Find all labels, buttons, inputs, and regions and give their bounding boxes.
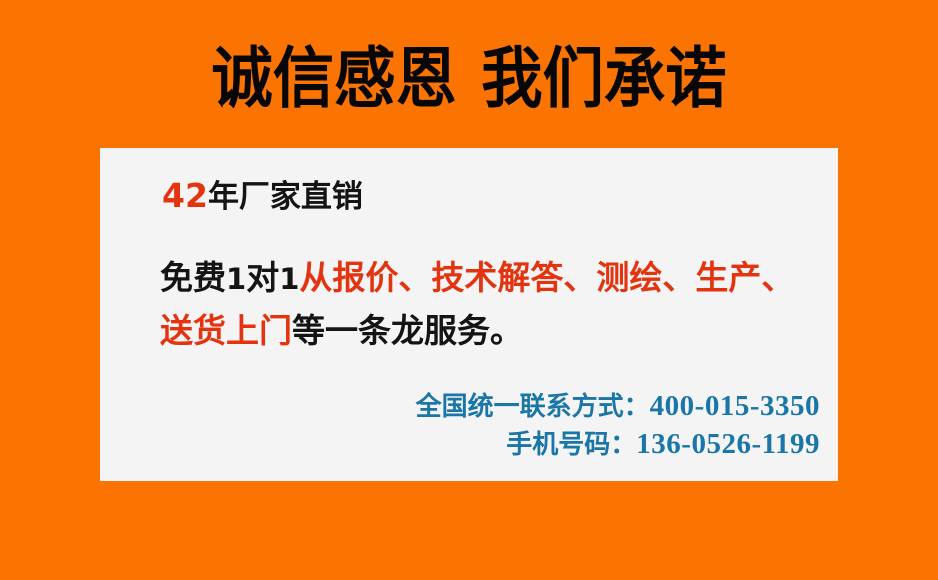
headline-part-1: 诚信感恩 <box>211 40 457 117</box>
service-seg-dui: 对 <box>246 258 279 297</box>
service-seg-free: 免费 <box>160 258 226 297</box>
headline-part-2: 我们承诺 <box>481 40 727 117</box>
contact-label-mobile: 手机号码： <box>506 430 636 460</box>
service-seg-one-a: 1 <box>226 262 246 296</box>
service-seg-tail: 等一条龙服务。 <box>292 311 523 350</box>
contact-row: 全国统一联系方式：400-015-3350 <box>416 388 820 426</box>
contact-row: 手机号码：136-0526-1199 <box>416 426 820 464</box>
promotional-banner: 诚信感恩我们承诺 42年厂家直销 免费1对1从报价、技术解答、测绘、生产、送货上… <box>0 0 938 580</box>
contact-label-hotline: 全国统一联系方式： <box>416 392 650 422</box>
headline: 诚信感恩我们承诺 <box>33 38 905 120</box>
service-description: 免费1对1从报价、技术解答、测绘、生产、送货上门等一条龙服务。 <box>160 252 818 356</box>
years-number: 42 <box>162 176 208 215</box>
years-in-business-line: 42年厂家直销 <box>162 178 363 215</box>
service-seg-one-b: 1 <box>279 262 299 296</box>
contact-value-hotline[interactable]: 400-015-3350 <box>650 390 820 422</box>
contact-value-mobile[interactable]: 136-0526-1199 <box>636 428 820 460</box>
info-panel: 42年厂家直销 免费1对1从报价、技术解答、测绘、生产、送货上门等一条龙服务。 … <box>100 148 838 481</box>
years-label: 年厂家直销 <box>208 179 363 215</box>
contact-block: 全国统一联系方式：400-015-3350 手机号码：136-0526-1199 <box>416 388 820 464</box>
